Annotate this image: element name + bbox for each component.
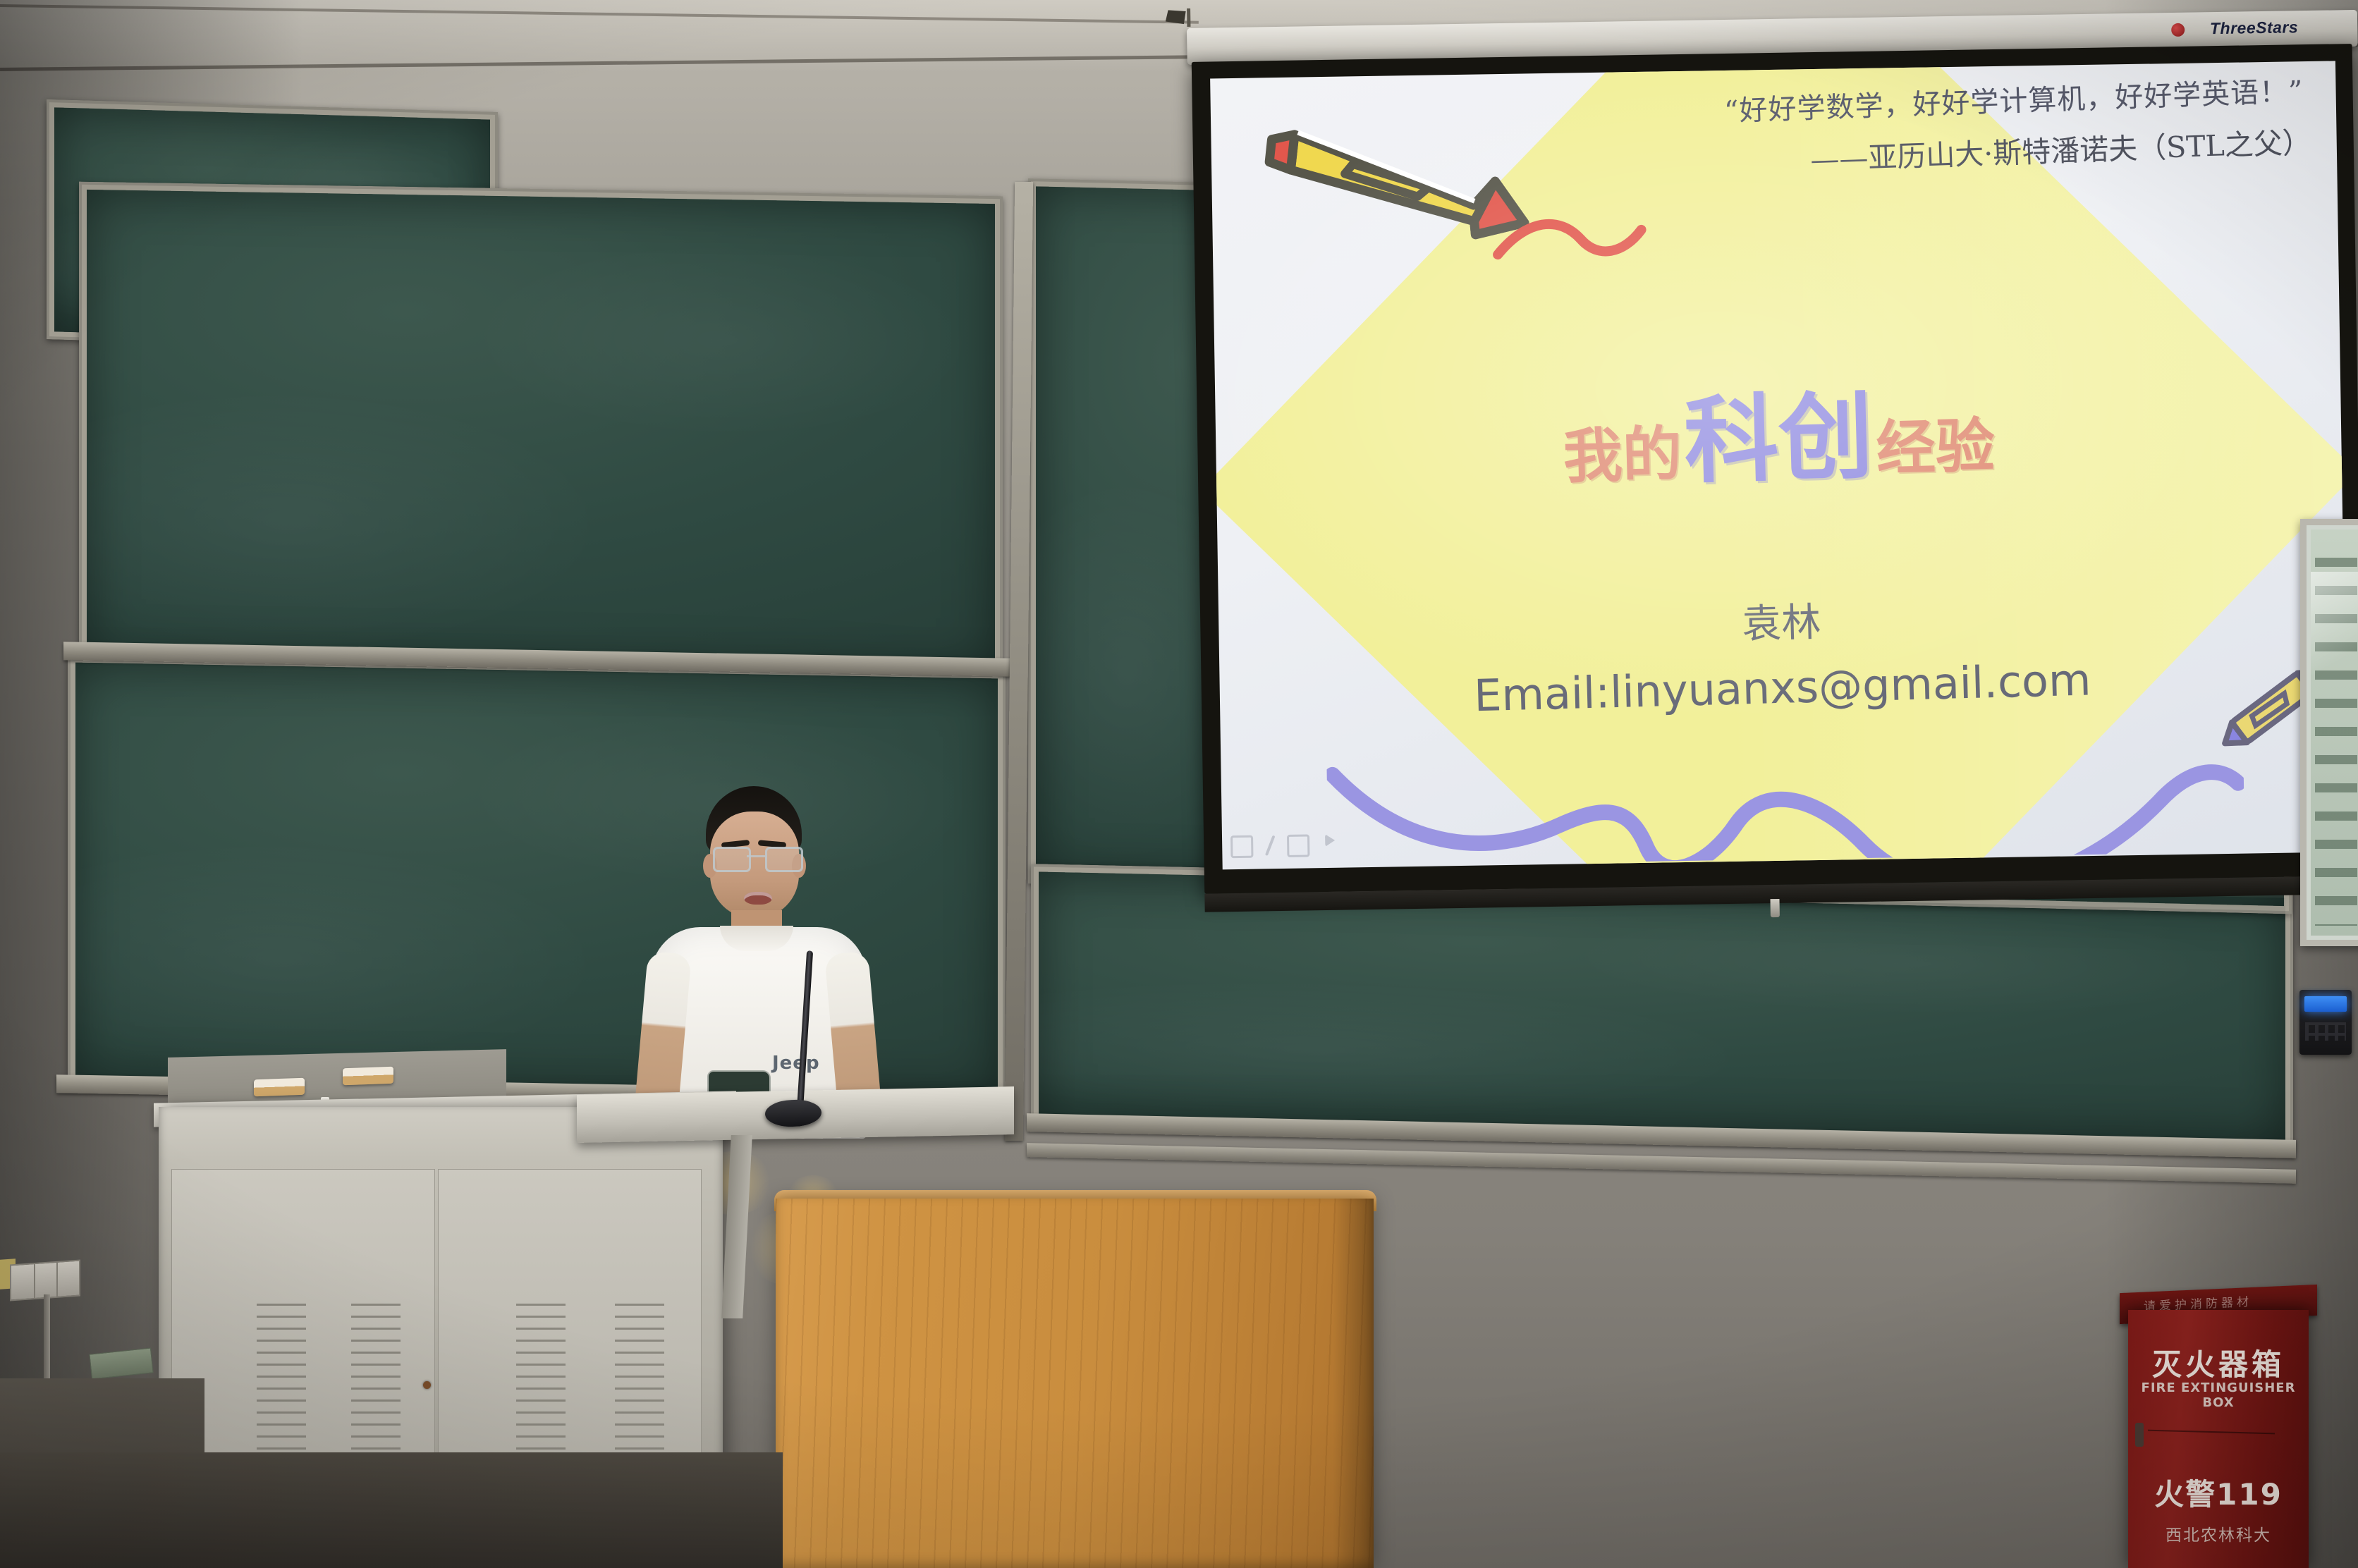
fire-box-latch[interactable] xyxy=(2135,1423,2144,1447)
control-panel-display xyxy=(2304,996,2347,1012)
presenter-mouth xyxy=(744,892,772,905)
brand-logo-dot xyxy=(2171,23,2185,37)
presenter: Jeep xyxy=(631,786,885,1132)
glasses-lens-left xyxy=(713,847,751,872)
slide-title-prefix: 我的 xyxy=(1563,419,1683,491)
wall-control-panel[interactable] xyxy=(2299,990,2352,1055)
classroom-scene: ThreeStars xyxy=(0,0,2358,1568)
screen-brand-label: ThreeStars xyxy=(2210,18,2299,38)
fire-box-door-seam xyxy=(2148,1430,2275,1435)
glasses-bridge xyxy=(747,855,765,857)
notice-glass-glare xyxy=(2311,572,2358,706)
fire-emergency-number: 火警119 xyxy=(2128,1471,2309,1514)
slide-title-suffix: 经验 xyxy=(1875,411,1996,483)
lectern-wood-grain xyxy=(776,1199,1374,1568)
tshirt-brand-label: Jeep xyxy=(772,1053,820,1074)
red-squiggle-icon xyxy=(1491,210,1654,276)
screen-ceiling-mount xyxy=(1119,8,1197,42)
pen-icon[interactable] xyxy=(1265,835,1276,856)
presentation-controls[interactable] xyxy=(1230,834,1335,858)
glasses-lens-right xyxy=(765,847,803,872)
fire-box-title: 灭火器箱 xyxy=(2128,1341,2309,1384)
screen-border: “好好学数学，好好学计算机，好好学英语！” ——亚历山大·斯特潘诺夫（STL之父… xyxy=(1192,44,2358,894)
wave-decoration xyxy=(1326,733,2245,866)
blackboard-eraser[interactable] xyxy=(343,1067,393,1086)
blackboard-eraser[interactable] xyxy=(254,1078,305,1097)
glasses-icon xyxy=(713,847,799,869)
slide-title-emphasis: 科创 xyxy=(1682,381,1874,496)
notice-paper xyxy=(2311,529,2358,936)
fire-extinguisher-box[interactable]: 灭火器箱 FIRE EXTINGUISHER BOX 火警119 西北农林科大 xyxy=(2128,1310,2309,1568)
wall-notice-board xyxy=(2300,519,2358,946)
lectern-side-shadow xyxy=(1333,1199,1374,1568)
fire-box-subtitle: FIRE EXTINGUISHER BOX xyxy=(2128,1380,2309,1410)
screen-pull-tab[interactable] xyxy=(1771,899,1780,917)
wooden-lectern xyxy=(776,1199,1374,1568)
fire-box-organization: 西北农林科大 xyxy=(2128,1521,2309,1545)
projector-screen-assembly: ThreeStars xyxy=(1187,10,2358,952)
blackboard-panel-upper-mid xyxy=(79,182,1003,680)
control-panel-buttons[interactable] xyxy=(2305,1022,2346,1041)
menu-icon[interactable] xyxy=(1287,834,1309,857)
blackboard-surface xyxy=(87,190,995,672)
projected-slide: “好好学数学，好好学计算机，好好学英语！” ——亚历山大·斯特潘诺夫（STL之父… xyxy=(1210,61,2347,869)
console-knob[interactable] xyxy=(423,1381,431,1389)
wall-conduit xyxy=(44,1294,50,1390)
prev-icon[interactable] xyxy=(1230,835,1253,858)
next-icon[interactable] xyxy=(1325,834,1335,847)
floor-front xyxy=(0,1452,783,1568)
